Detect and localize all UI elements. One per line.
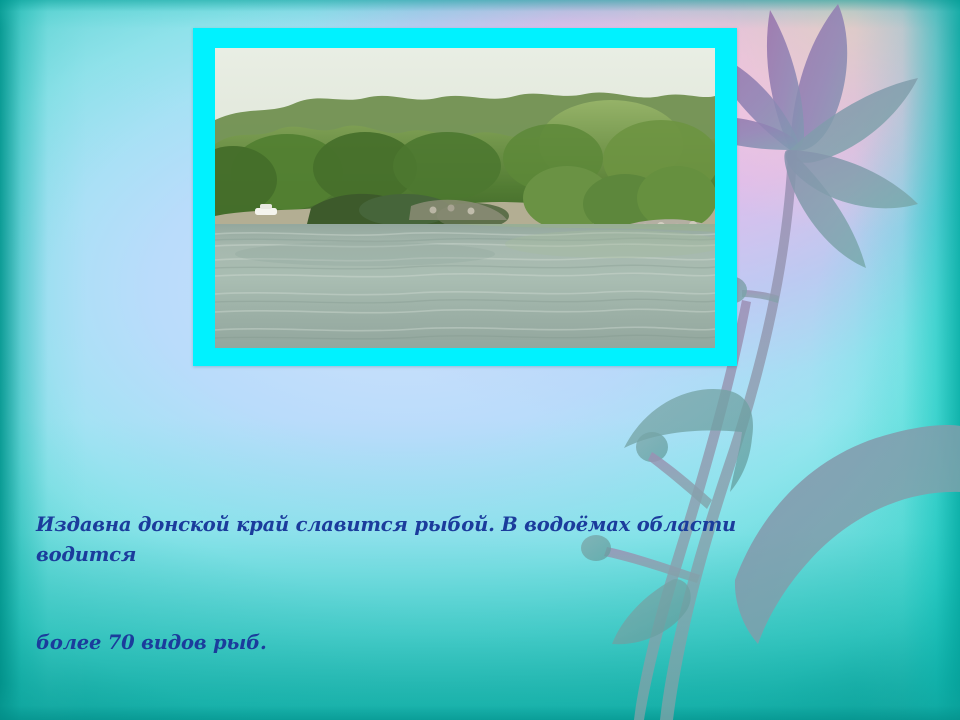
slide-canvas: Издавна донской край славится рыбой. В в… [0,0,960,720]
river-landscape-illustration [215,48,715,348]
picture-frame[interactable] [193,28,737,366]
text-line: более 70 видов рыб. [36,628,836,658]
text-line: Издавна донской край славится рыбой. В в… [36,510,836,569]
slide-body-text: Издавна донской край славится рыбой. В в… [36,392,836,720]
paragraph-1: Издавна донской край славится рыбой. В в… [36,451,836,717]
river-landscape-photo[interactable] [215,48,715,348]
